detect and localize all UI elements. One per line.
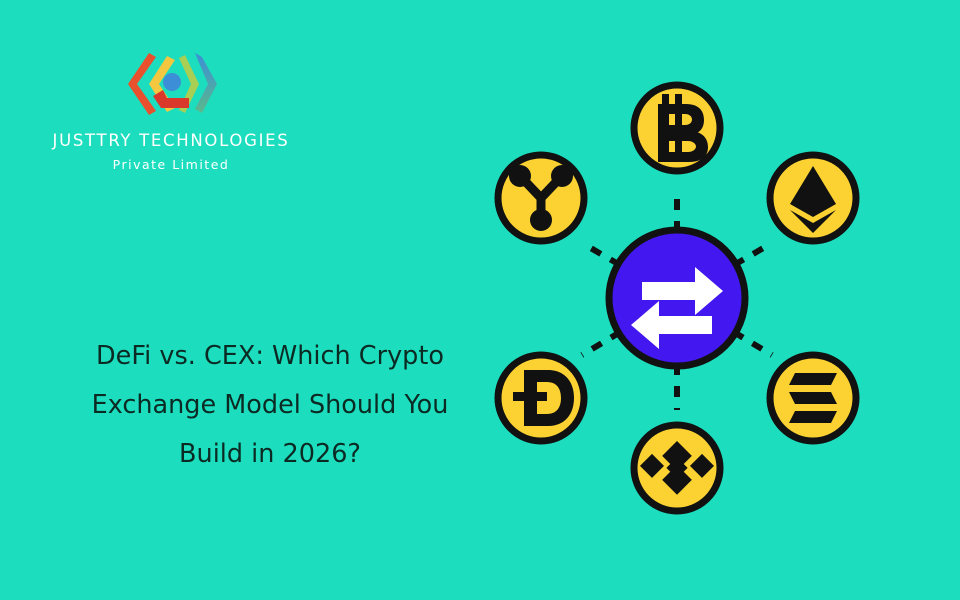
coin-binance[interactable] <box>634 425 720 511</box>
headline-line-1: DeFi vs. CEX: Which Crypto <box>58 332 482 381</box>
headline-line-2: Exchange Model Should You <box>58 381 482 430</box>
crypto-exchange-hub-diagram <box>480 70 900 530</box>
headline-line-3: Build in 2026? <box>58 430 482 479</box>
coin-ethereum[interactable] <box>770 155 856 241</box>
brand-subtitle: Private Limited <box>113 157 230 172</box>
coin-solana[interactable] <box>770 355 856 441</box>
solana-icon <box>789 373 837 423</box>
exchange-hub[interactable] <box>609 230 745 366</box>
brand-block: JUSTTRY TECHNOLOGIES Private Limited <box>46 46 296 172</box>
brand-name: JUSTTRY TECHNOLOGIES <box>53 131 290 150</box>
coin-bitcoin[interactable] <box>634 85 720 171</box>
coin-ripple[interactable] <box>498 155 584 241</box>
page-title: DeFi vs. CEX: Which Crypto Exchange Mode… <box>58 332 482 479</box>
coin-dogecoin[interactable] <box>498 355 584 441</box>
banner-canvas: JUSTTRY TECHNOLOGIES Private Limited DeF… <box>0 0 960 600</box>
justtry-hexagon-logo-icon <box>123 46 219 122</box>
